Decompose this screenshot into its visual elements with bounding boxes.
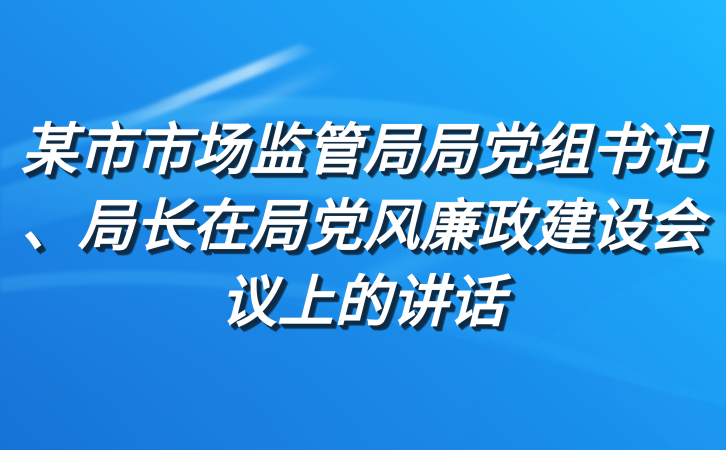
title-line-1: 某市市场监管局局党组书记 — [0, 112, 726, 188]
banner-title: 某市市场监管局局党组书记 、局长在局党风廉政建设会 议上的讲话 — [0, 112, 726, 340]
title-banner: 某市市场监管局局党组书记 、局长在局党风廉政建设会 议上的讲话 — [0, 0, 726, 450]
title-line-3: 议上的讲话 — [0, 264, 726, 340]
title-line-2: 、局长在局党风廉政建设会 — [0, 188, 726, 264]
